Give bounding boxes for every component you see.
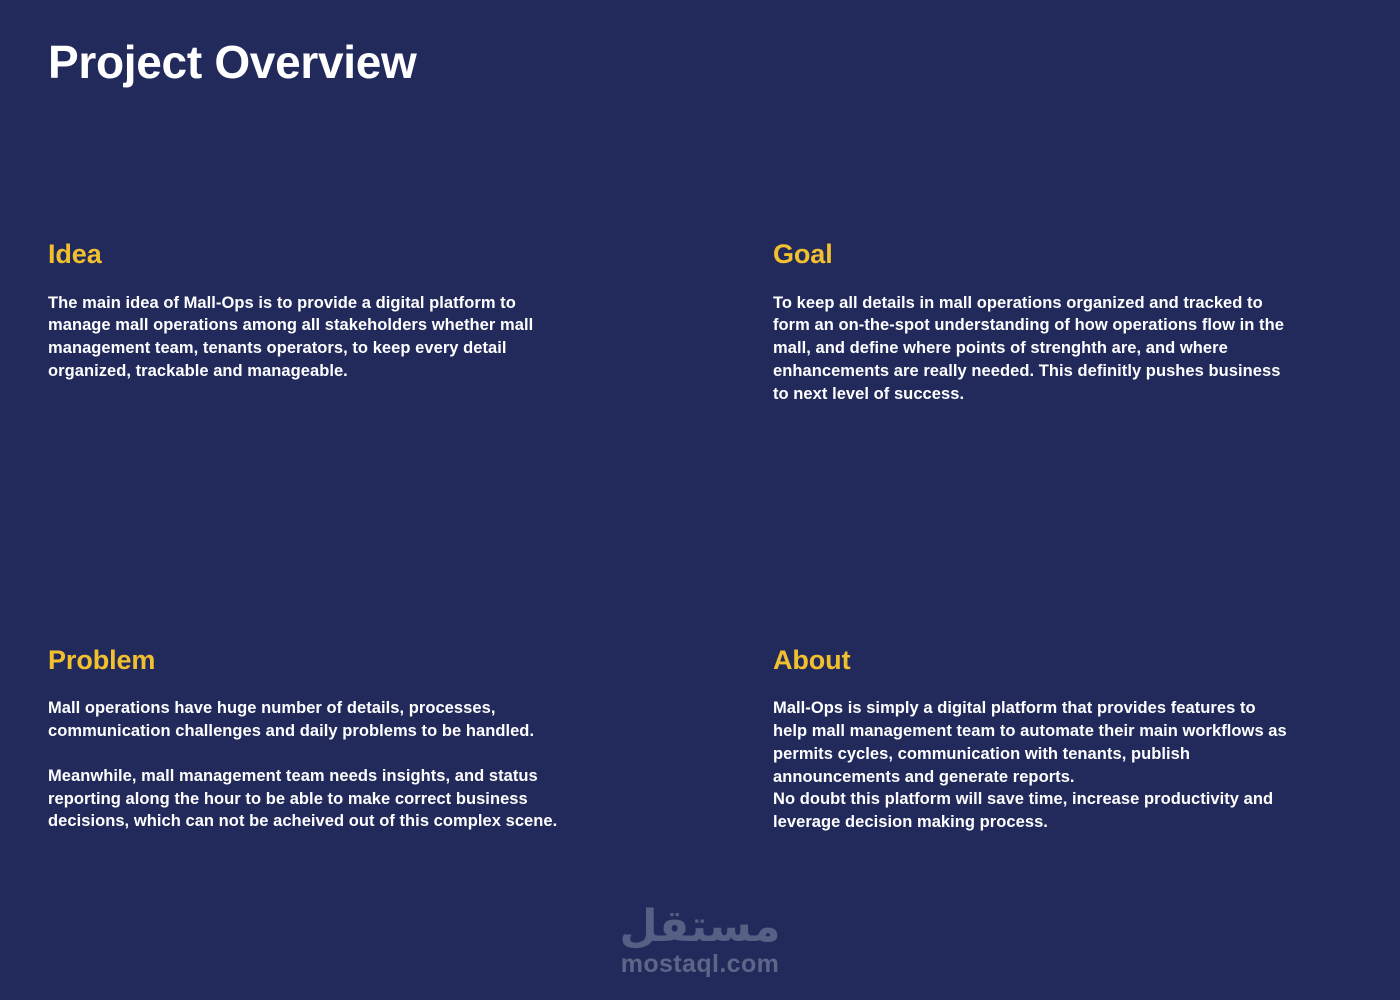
- section-heading-goal: Goal: [773, 240, 1393, 270]
- section-heading-problem: Problem: [48, 646, 773, 676]
- section-heading-about: About: [773, 646, 1393, 676]
- mostaql-arabic-logo-icon: مستقل: [620, 905, 781, 949]
- slide-root: Project Overview Idea The main idea of M…: [0, 0, 1400, 1000]
- section-goal: Goal To keep all details in mall operati…: [773, 240, 1393, 406]
- mostaql-wordmark: mostaql.com: [621, 951, 780, 979]
- section-body-problem-2: Meanwhile, mall management team needs in…: [48, 765, 573, 833]
- section-heading-idea: Idea: [48, 240, 773, 270]
- section-body-about: Mall-Ops is simply a digital platform th…: [773, 697, 1293, 834]
- section-idea: Idea The main idea of Mall-Ops is to pro…: [48, 240, 773, 406]
- section-body-idea: The main idea of Mall-Ops is to provide …: [48, 292, 573, 383]
- mostaql-logo: مستقل mostaql.com: [0, 905, 1400, 979]
- section-about: About Mall-Ops is simply a digital platf…: [773, 406, 1393, 834]
- page-title: Project Overview: [48, 36, 417, 89]
- section-body-goal: To keep all details in mall operations o…: [773, 292, 1293, 406]
- section-body-problem-1: Mall operations have huge number of deta…: [48, 697, 573, 743]
- section-problem: Problem Mall operations have huge number…: [48, 406, 773, 834]
- sections-grid: Idea The main idea of Mall-Ops is to pro…: [0, 240, 1400, 834]
